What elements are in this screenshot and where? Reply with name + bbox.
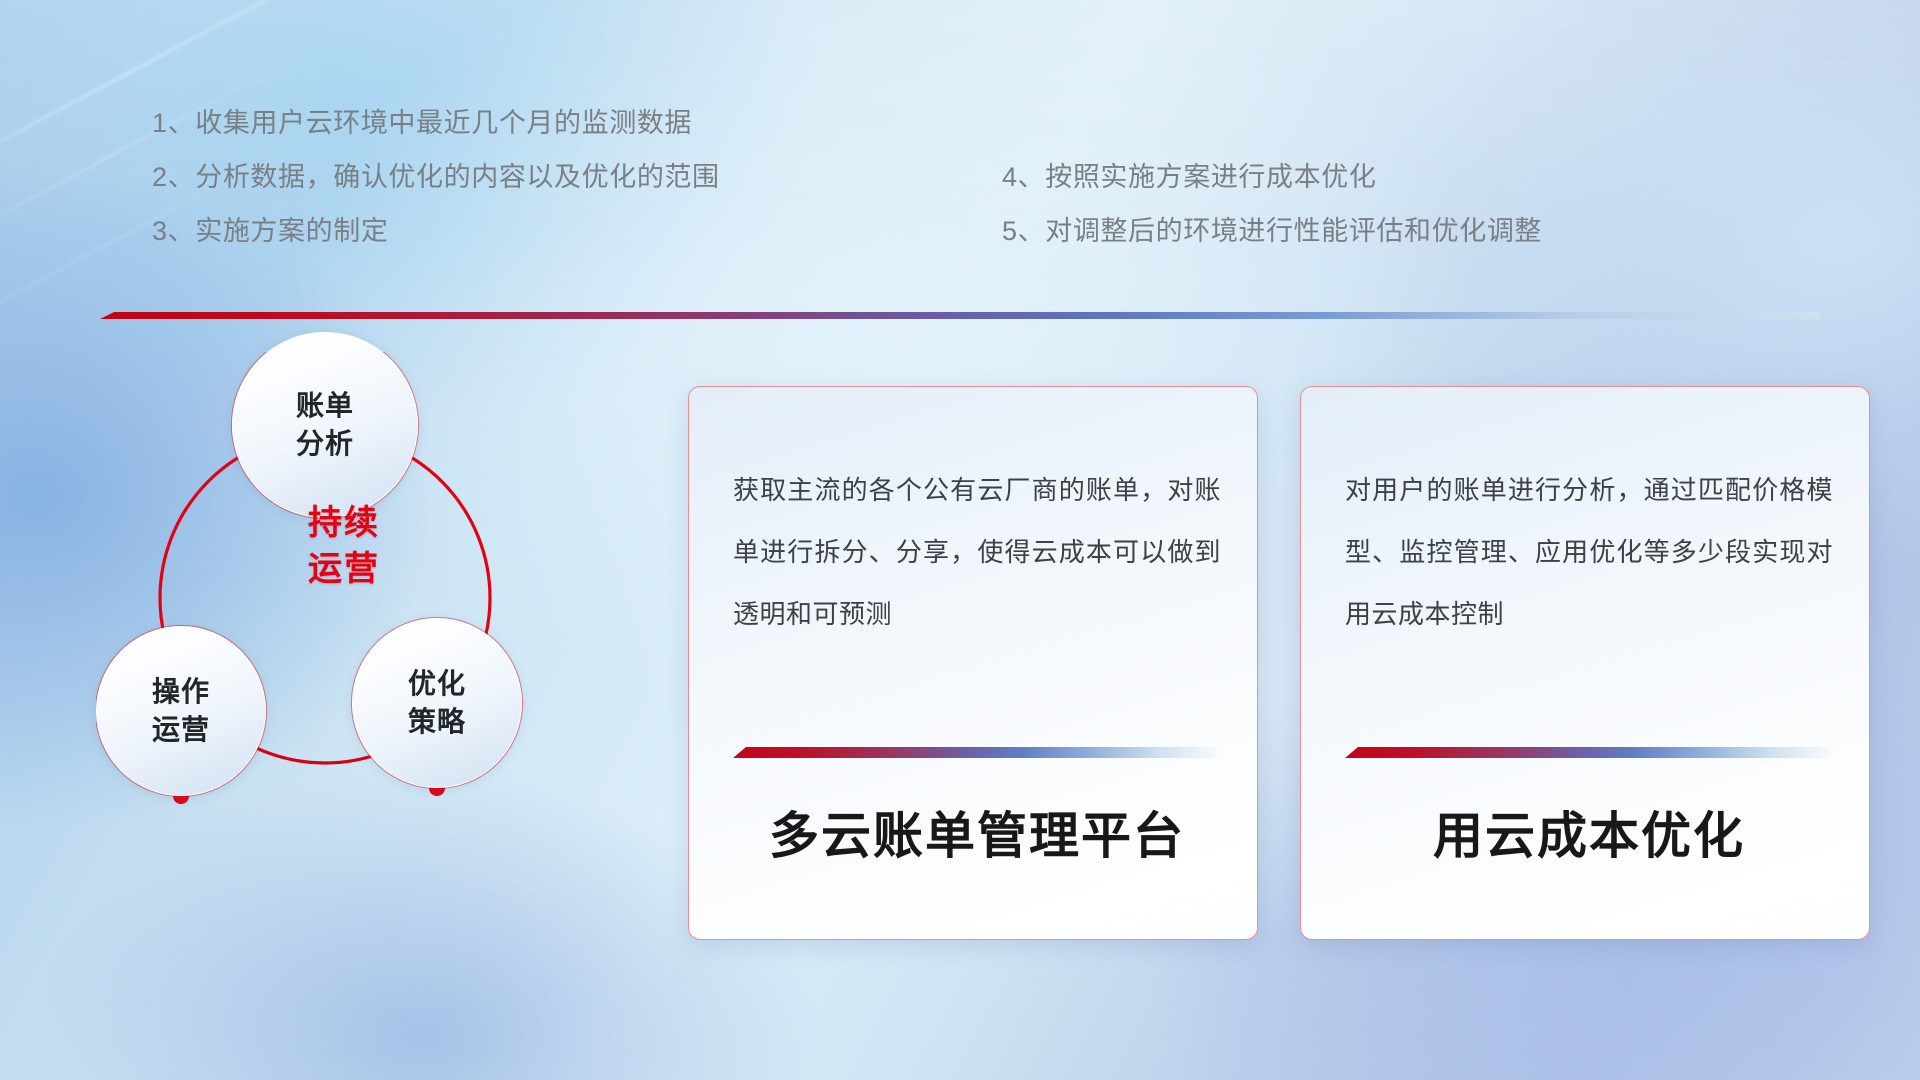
section-divider-bar bbox=[100, 312, 1820, 319]
venn-bubble-optimization-strategy-label: 优化策略 bbox=[408, 665, 466, 741]
card-2-body: 对用户的账单进行分析，通过匹配价格模型、监控管理、应用优化等多少段实现对用云成本… bbox=[1345, 459, 1833, 645]
card-1-title: 多云账单管理平台 bbox=[733, 805, 1221, 867]
venn-bubble-billing-analysis[interactable]: 账单分析 bbox=[232, 332, 418, 518]
step-item-4: 4、按照实施方案进行成本优化 bbox=[1002, 150, 1542, 204]
card-multi-cloud-billing-platform[interactable]: 获取主流的各个公有云厂商的账单，对账单进行拆分、分享，使得云成本可以做到透明和可… bbox=[688, 386, 1258, 940]
steps-right-column: 4、按照实施方案进行成本优化 5、对调整后的环境进行性能评估和优化调整 bbox=[1002, 150, 1542, 258]
venn-bubble-billing-analysis-label: 账单分析 bbox=[296, 387, 354, 463]
step-item-3: 3、实施方案的制定 bbox=[152, 204, 720, 258]
card-2-divider bbox=[1345, 747, 1829, 758]
steps-left-column: 1、收集用户云环境中最近几个月的监测数据 2、分析数据，确认优化的内容以及优化的… bbox=[152, 96, 720, 258]
section-divider bbox=[100, 312, 1820, 321]
venn-bubble-operations-label: 操作运营 bbox=[152, 673, 210, 749]
process-steps: 1、收集用户云环境中最近几个月的监测数据 2、分析数据，确认优化的内容以及优化的… bbox=[0, 0, 1920, 270]
card-1-divider bbox=[733, 747, 1217, 758]
step-item-5: 5、对调整后的环境进行性能评估和优化调整 bbox=[1002, 204, 1542, 258]
card-2-title: 用云成本优化 bbox=[1345, 805, 1833, 867]
venn-bubble-optimization-strategy[interactable]: 优化策略 bbox=[352, 618, 522, 788]
venn-center-label: 持续运营 bbox=[244, 500, 444, 592]
step-item-2: 2、分析数据，确认优化的内容以及优化的范围 bbox=[152, 150, 720, 204]
continuous-operations-diagram: 账单分析 操作运营 优化策略 持续运营 bbox=[96, 352, 616, 952]
step-item-1: 1、收集用户云环境中最近几个月的监测数据 bbox=[152, 96, 720, 150]
venn-bubble-operations[interactable]: 操作运营 bbox=[96, 626, 266, 796]
card-1-body: 获取主流的各个公有云厂商的账单，对账单进行拆分、分享，使得云成本可以做到透明和可… bbox=[733, 459, 1221, 645]
card-cloud-cost-optimization[interactable]: 对用户的账单进行分析，通过匹配价格模型、监控管理、应用优化等多少段实现对用云成本… bbox=[1300, 386, 1870, 940]
